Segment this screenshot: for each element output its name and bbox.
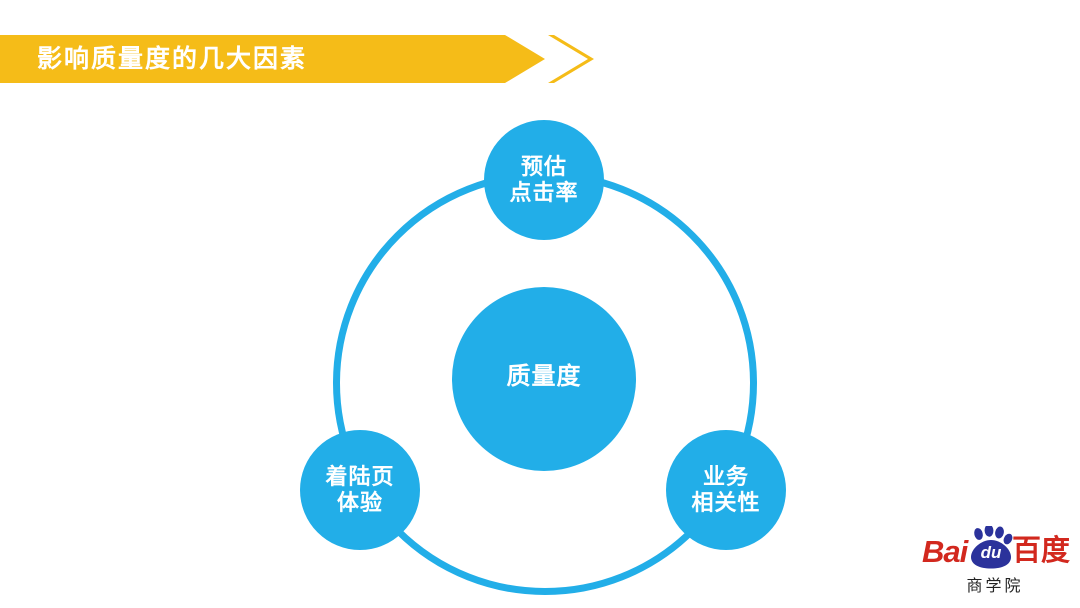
baidu-wordmark: Bai du 百度 — [920, 528, 1070, 570]
node-landing-page-experience[interactable]: 着陆页 体验 — [300, 430, 420, 550]
baidu-logo-hanzi: 百度 — [1012, 537, 1070, 566]
node-landing-page-experience-line2: 体验 — [337, 490, 383, 516]
node-estimated-ctr[interactable]: 预估 点击率 — [484, 120, 604, 240]
node-business-relevance-line1: 业务 — [703, 464, 749, 490]
node-landing-page-experience-line1: 着陆页 — [325, 464, 394, 490]
node-estimated-ctr-line1: 预估 — [521, 154, 567, 180]
quality-factors-diagram: 质量度 预估 点击率 着陆页 体验 业务 相关性 — [0, 0, 1080, 608]
baidu-logo-du: du — [975, 544, 1007, 561]
baidu-logo-subtitle: 商学院 — [920, 572, 1070, 596]
node-business-relevance-line2: 相关性 — [691, 490, 760, 516]
node-business-relevance[interactable]: 业务 相关性 — [666, 430, 786, 550]
baidu-logo-latin: Bai — [922, 536, 967, 567]
center-node-quality[interactable]: 质量度 — [452, 287, 636, 471]
node-estimated-ctr-line2: 点击率 — [509, 180, 578, 206]
center-node-label: 质量度 — [507, 363, 582, 391]
baidu-logo: Bai du 百度 商学院 — [920, 528, 1070, 600]
